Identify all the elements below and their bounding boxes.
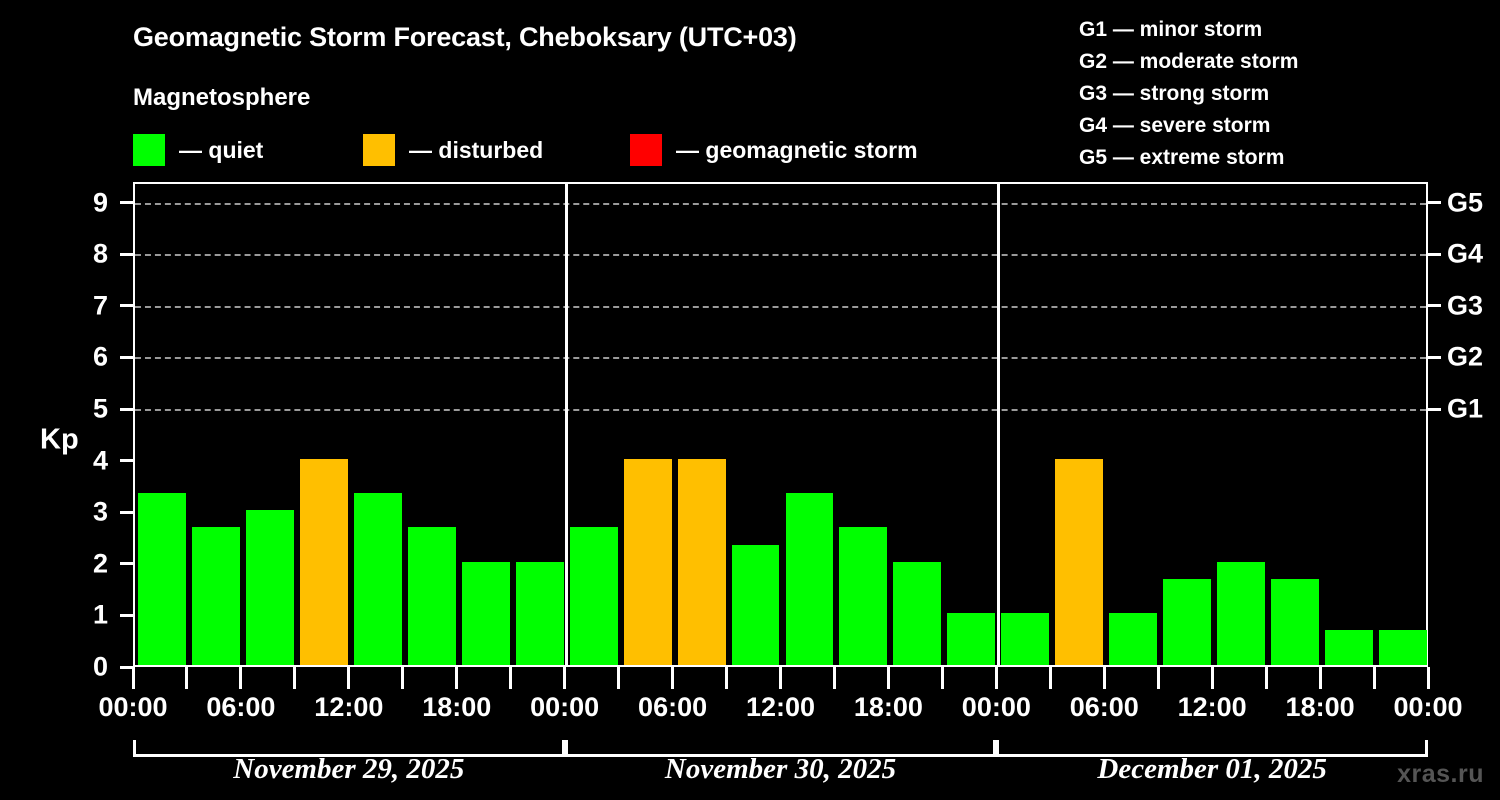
- bar-kp: [246, 510, 294, 665]
- x-tick-mark-1: [185, 667, 188, 689]
- bar-kp: [1109, 613, 1157, 665]
- bar-kp: [1217, 562, 1265, 665]
- x-tick-mark-12: [779, 667, 782, 689]
- x-tick-label-3: 18:00: [422, 692, 491, 723]
- y-tick-mark-7: [120, 304, 133, 307]
- y-tick-mark-2: [120, 562, 133, 565]
- bar-kp: [354, 493, 402, 665]
- g-tick-label-G2: G2: [1447, 342, 1483, 373]
- disturbed-legend: — disturbed: [363, 133, 543, 167]
- g-tick-mark-G5: [1428, 201, 1441, 204]
- bar-kp: [1055, 459, 1103, 665]
- bar-kp: [570, 527, 618, 665]
- bar-kp: [678, 459, 726, 665]
- y-tick-label-5: 5: [68, 394, 108, 425]
- bar-kp: [1379, 630, 1427, 665]
- disturbed-legend-swatch-icon: [363, 134, 395, 166]
- watermark: xras.ru: [1397, 760, 1484, 789]
- x-tick-mark-13: [833, 667, 836, 689]
- section-label: Magnetosphere: [133, 84, 310, 112]
- g-tick-mark-G4: [1428, 253, 1441, 256]
- bar-kp: [516, 562, 564, 665]
- x-tick-mark-5: [401, 667, 404, 689]
- y-tick-label-1: 1: [68, 600, 108, 631]
- storm-legend-label: — geomagnetic storm: [676, 137, 918, 164]
- y-tick-label-0: 0: [68, 652, 108, 683]
- x-tick-mark-2: [239, 667, 242, 689]
- y-tick-mark-4: [120, 459, 133, 462]
- g-legend-line-4: G4 — severe storm: [1079, 110, 1409, 142]
- x-tick-label-5: 06:00: [638, 692, 707, 723]
- x-tick-label-11: 18:00: [1286, 692, 1355, 723]
- x-tick-mark-21: [1265, 667, 1268, 689]
- g-scale-legend: G1 — minor stormG2 — moderate stormG3 — …: [1079, 14, 1409, 174]
- gridline-kp-5: [135, 409, 1426, 411]
- x-tick-mark-19: [1157, 667, 1160, 689]
- x-tick-label-4: 00:00: [530, 692, 599, 723]
- bar-kp: [1163, 579, 1211, 665]
- bar-kp: [1271, 579, 1319, 665]
- x-tick-mark-6: [455, 667, 458, 689]
- x-tick-mark-15: [941, 667, 944, 689]
- g-tick-mark-G3: [1428, 304, 1441, 307]
- y-tick-label-8: 8: [68, 239, 108, 270]
- storm-legend-swatch-icon: [630, 134, 662, 166]
- x-tick-label-2: 12:00: [314, 692, 383, 723]
- x-tick-label-6: 12:00: [746, 692, 815, 723]
- g-tick-label-G3: G3: [1447, 290, 1483, 321]
- x-tick-label-10: 12:00: [1178, 692, 1247, 723]
- bar-kp: [462, 562, 510, 665]
- y-tick-mark-8: [120, 253, 133, 256]
- g-tick-mark-G2: [1428, 356, 1441, 359]
- x-tick-mark-3: [293, 667, 296, 689]
- day-label-3: December 01, 2025: [1097, 753, 1327, 786]
- g-tick-label-G4: G4: [1447, 239, 1483, 270]
- gridline-kp-8: [135, 254, 1426, 256]
- g-tick-label-G1: G1: [1447, 394, 1483, 425]
- x-tick-mark-18: [1103, 667, 1106, 689]
- y-tick-label-3: 3: [68, 497, 108, 528]
- x-tick-mark-7: [509, 667, 512, 689]
- x-tick-mark-17: [1049, 667, 1052, 689]
- bar-kp: [786, 493, 834, 665]
- x-tick-mark-0: [132, 667, 135, 689]
- geomagnetic-forecast-chart: Geomagnetic Storm Forecast, Cheboksary (…: [0, 0, 1500, 800]
- x-tick-label-1: 06:00: [206, 692, 275, 723]
- quiet-legend: — quiet: [133, 133, 263, 167]
- y-tick-mark-1: [120, 614, 133, 617]
- g-tick-label-G5: G5: [1447, 187, 1483, 218]
- y-tick-label-7: 7: [68, 290, 108, 321]
- bar-kp: [1001, 613, 1049, 665]
- x-tick-mark-16: [995, 667, 998, 689]
- day-label-1: November 29, 2025: [233, 753, 464, 786]
- page-title: Geomagnetic Storm Forecast, Cheboksary (…: [133, 22, 797, 53]
- quiet-legend-label: — quiet: [179, 137, 263, 164]
- x-tick-label-12: 00:00: [1393, 692, 1462, 723]
- y-tick-mark-9: [120, 201, 133, 204]
- x-tick-mark-20: [1211, 667, 1214, 689]
- y-tick-mark-3: [120, 511, 133, 514]
- bar-kp: [408, 527, 456, 665]
- bar-kp: [732, 545, 780, 665]
- x-tick-mark-4: [347, 667, 350, 689]
- g-legend-line-3: G3 — strong storm: [1079, 78, 1409, 110]
- x-tick-mark-10: [671, 667, 674, 689]
- x-tick-label-0: 00:00: [98, 692, 167, 723]
- bar-kp: [138, 493, 186, 665]
- y-tick-label-9: 9: [68, 187, 108, 218]
- storm-legend: — geomagnetic storm: [630, 133, 918, 167]
- g-legend-line-5: G5 — extreme storm: [1079, 142, 1409, 174]
- bar-kp: [300, 459, 348, 665]
- x-tick-mark-11: [725, 667, 728, 689]
- y-tick-label-2: 2: [68, 548, 108, 579]
- x-tick-mark-22: [1319, 667, 1322, 689]
- bar-kp: [947, 613, 995, 665]
- bar-kp: [839, 527, 887, 665]
- plot-area: [133, 182, 1428, 667]
- x-tick-mark-14: [887, 667, 890, 689]
- y-axis-title: Kp: [40, 423, 79, 456]
- bar-kp: [624, 459, 672, 665]
- gridline-kp-7: [135, 306, 1426, 308]
- disturbed-legend-label: — disturbed: [409, 137, 543, 164]
- g-tick-mark-G1: [1428, 408, 1441, 411]
- gridline-kp-6: [135, 357, 1426, 359]
- x-tick-mark-9: [617, 667, 620, 689]
- plot-inner: [135, 184, 1426, 665]
- x-tick-label-8: 00:00: [962, 692, 1031, 723]
- bar-kp: [1325, 630, 1373, 665]
- g-legend-line-2: G2 — moderate storm: [1079, 46, 1409, 78]
- y-tick-mark-6: [120, 356, 133, 359]
- quiet-legend-swatch-icon: [133, 134, 165, 166]
- x-tick-mark-8: [563, 667, 566, 689]
- x-tick-mark-23: [1373, 667, 1376, 689]
- x-tick-mark-24: [1427, 667, 1430, 689]
- y-tick-mark-5: [120, 408, 133, 411]
- x-tick-label-9: 06:00: [1070, 692, 1139, 723]
- day-label-2: November 30, 2025: [665, 753, 896, 786]
- day-divider: [997, 184, 1000, 665]
- gridline-kp-9: [135, 203, 1426, 205]
- day-divider: [565, 184, 568, 665]
- bar-kp: [192, 527, 240, 665]
- y-tick-label-6: 6: [68, 342, 108, 373]
- g-legend-line-1: G1 — minor storm: [1079, 14, 1409, 46]
- bar-kp: [893, 562, 941, 665]
- x-tick-label-7: 18:00: [854, 692, 923, 723]
